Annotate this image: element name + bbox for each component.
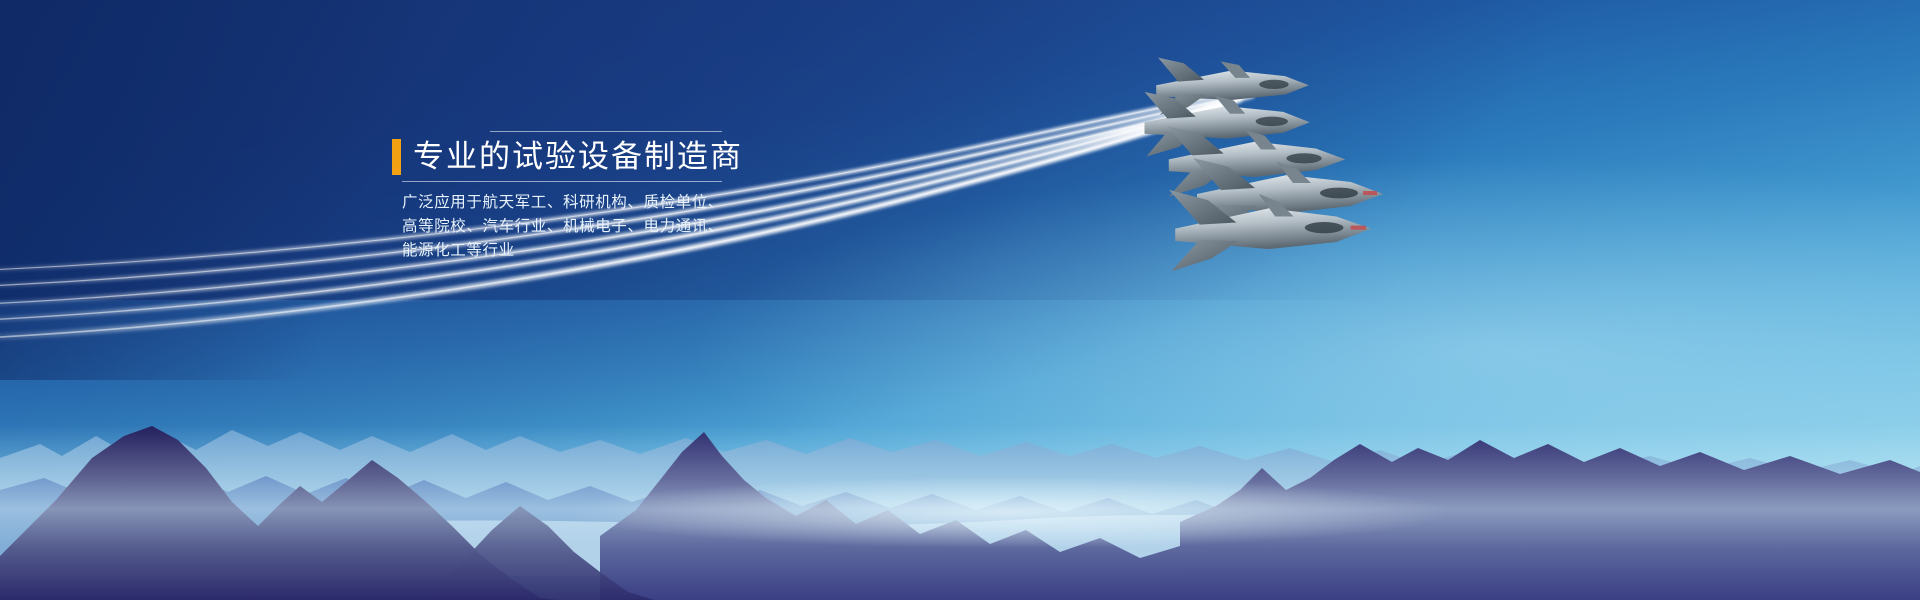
subtitle-line-1: 广泛应用于航天军工、科研机构、质检单位、 [402, 191, 822, 215]
subtitle-line-3: 能源化工等行业 [402, 239, 822, 263]
fighter-jet-formation [1125, 48, 1505, 278]
accent-bar [392, 139, 401, 175]
headline-rule-bottom [402, 181, 722, 182]
page-title: 专业的试验设备制造商 [413, 139, 743, 175]
hero-banner: 专业的试验设备制造商 广泛应用于航天军工、科研机构、质检单位、 高等院校、汽车行… [0, 0, 1920, 600]
headline-row: 专业的试验设备制造商 [392, 139, 822, 175]
mountain-range-silhouette [0, 340, 1920, 600]
subtitle-line-2: 高等院校、汽车行业、机械电子、电力通讯、 [402, 215, 822, 239]
headline-rule-top [490, 131, 722, 132]
hero-copy-block: 专业的试验设备制造商 广泛应用于航天军工、科研机构、质检单位、 高等院校、汽车行… [392, 131, 822, 263]
hero-subtitle: 广泛应用于航天军工、科研机构、质检单位、 高等院校、汽车行业、机械电子、电力通讯… [402, 191, 822, 263]
